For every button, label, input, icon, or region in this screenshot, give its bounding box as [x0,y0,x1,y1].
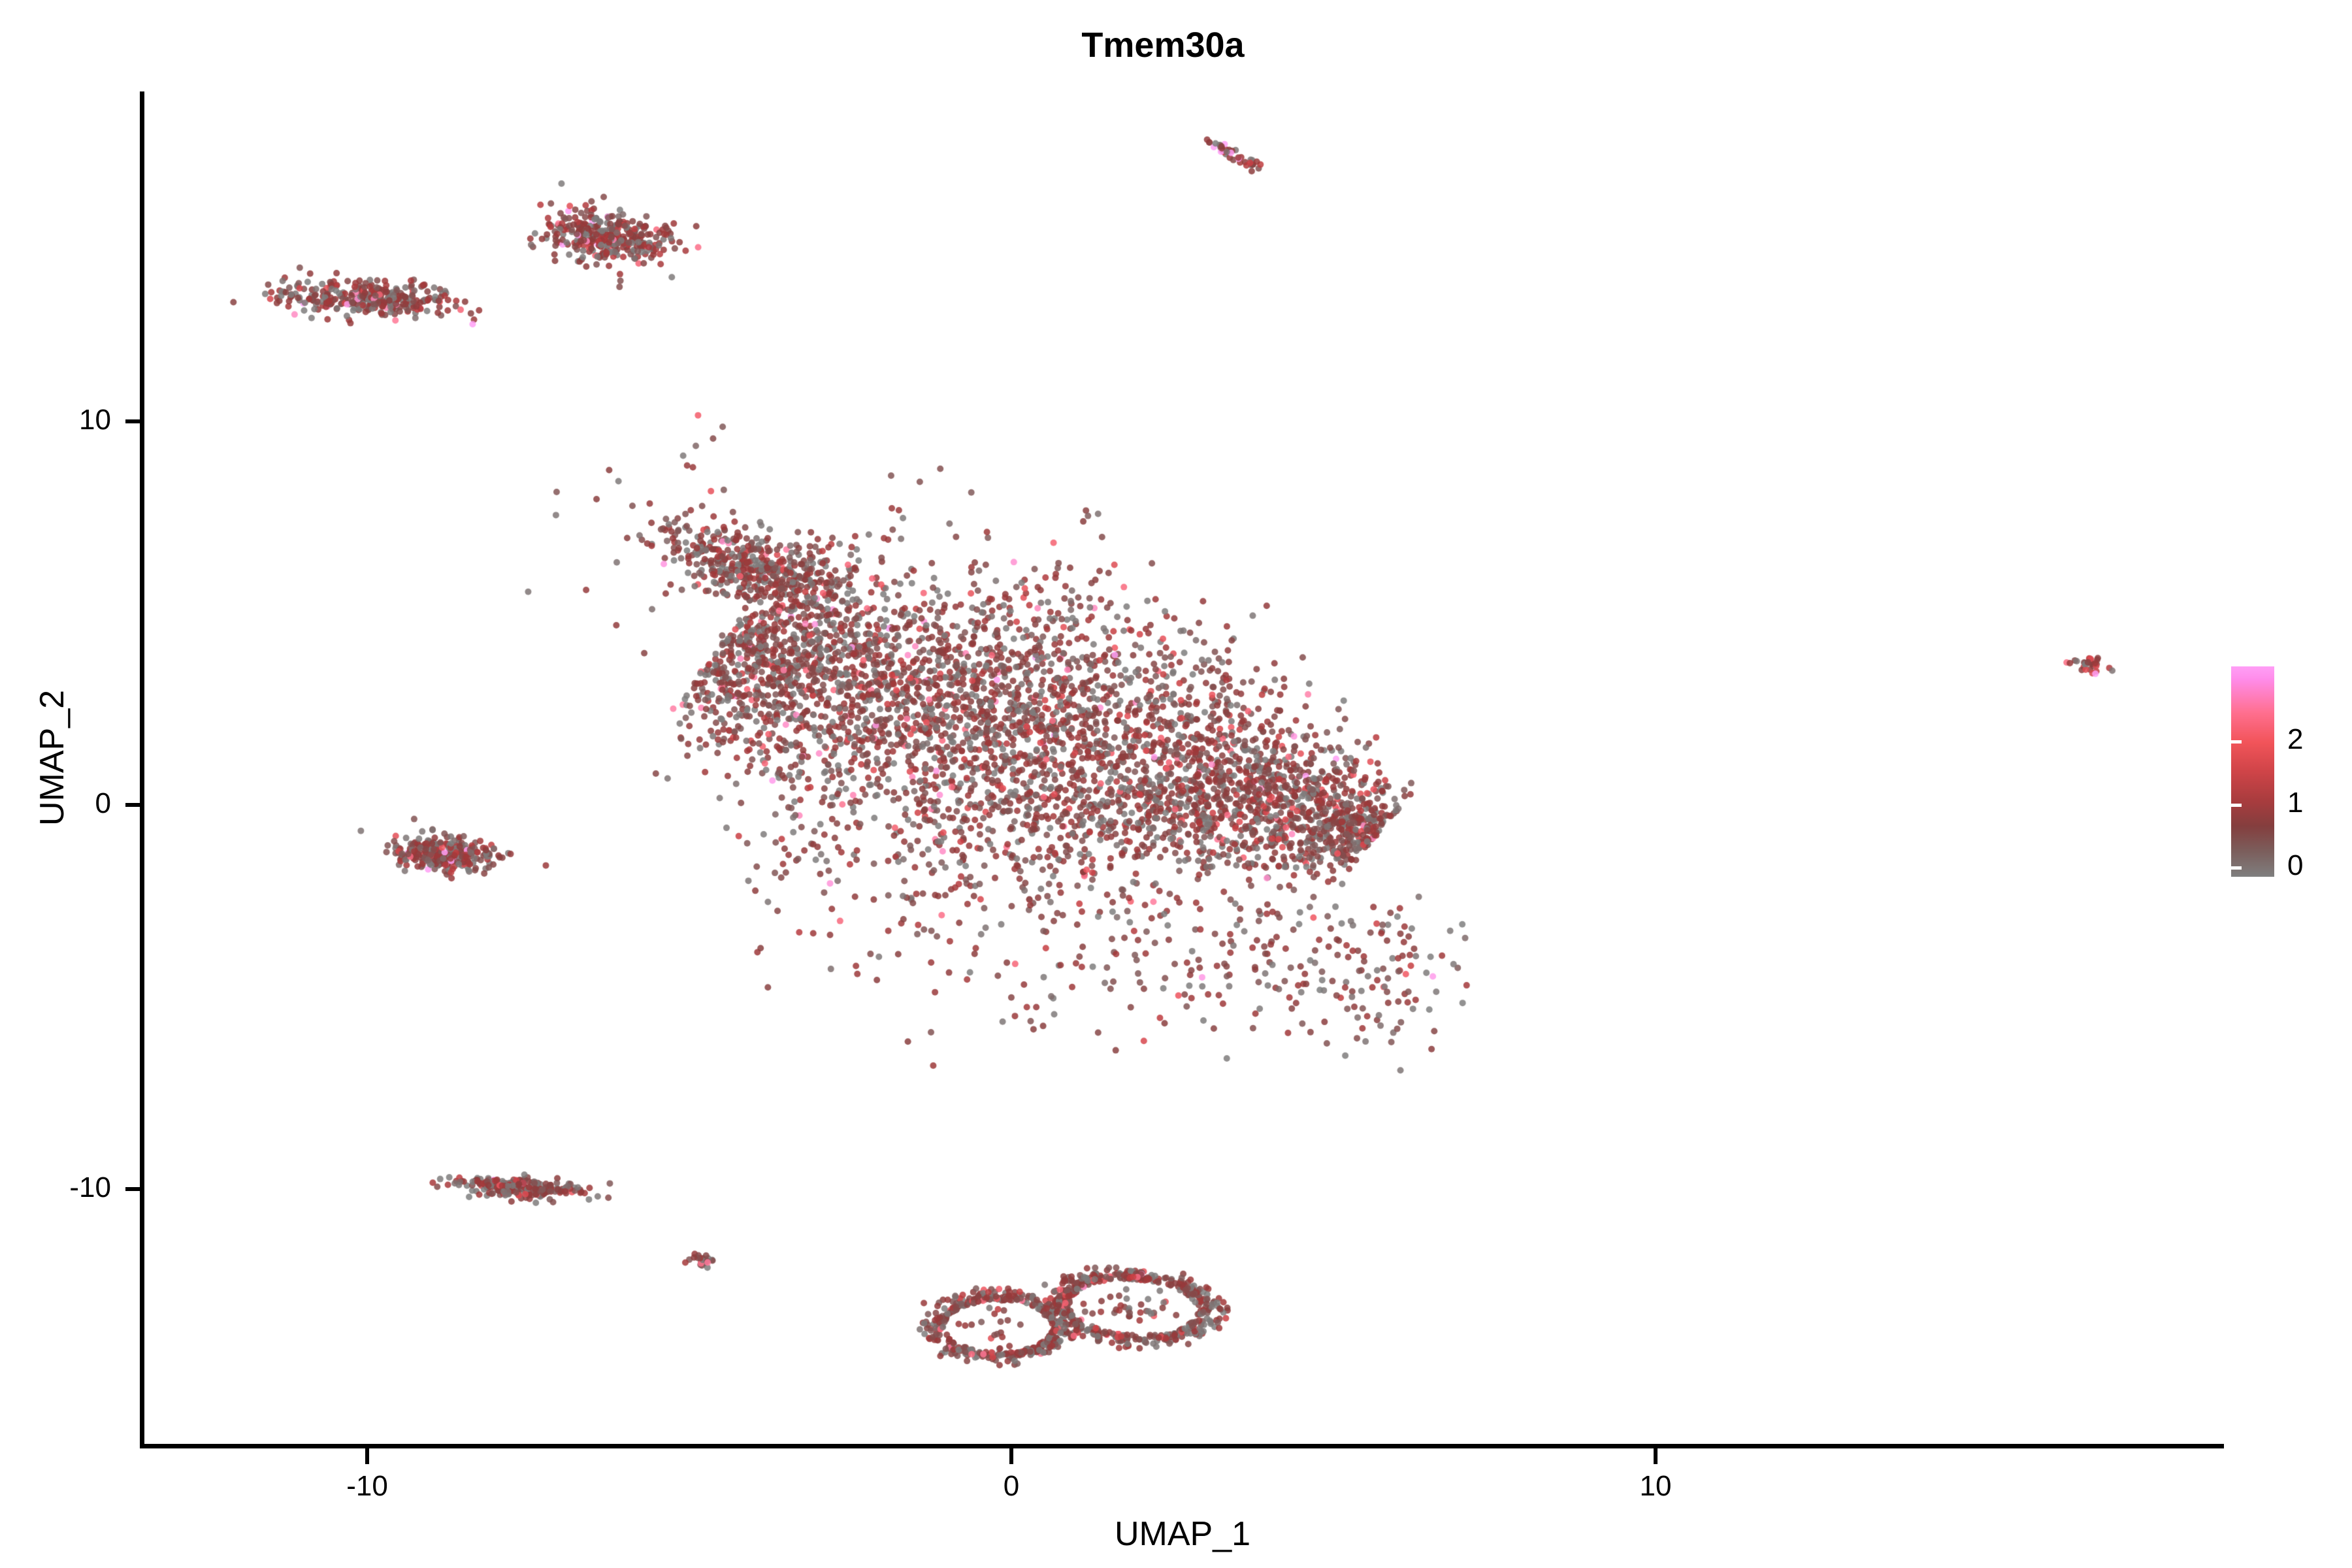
legend-label-1: 1 [2287,789,2303,817]
scatter-plot-canvas [0,0,2352,1568]
legend-tick-0-right [2332,866,2342,870]
legend-label-0: 0 [2287,851,2303,880]
legend-colorbar [2231,666,2274,877]
umap-feature-plot: Tmem30a 10 0 -10 -10 0 10 UMAP_2 UMAP_1 … [0,0,2352,1568]
legend-tick-2-left [2231,740,2242,743]
legend-tick-1-right [2332,804,2342,807]
legend-tick-1-left [2231,804,2242,807]
legend-label-2: 2 [2287,725,2303,754]
legend-tick-2-right [2332,740,2342,743]
legend-tick-0-left [2231,866,2242,870]
color-legend: 2 1 0 [2231,666,2342,882]
